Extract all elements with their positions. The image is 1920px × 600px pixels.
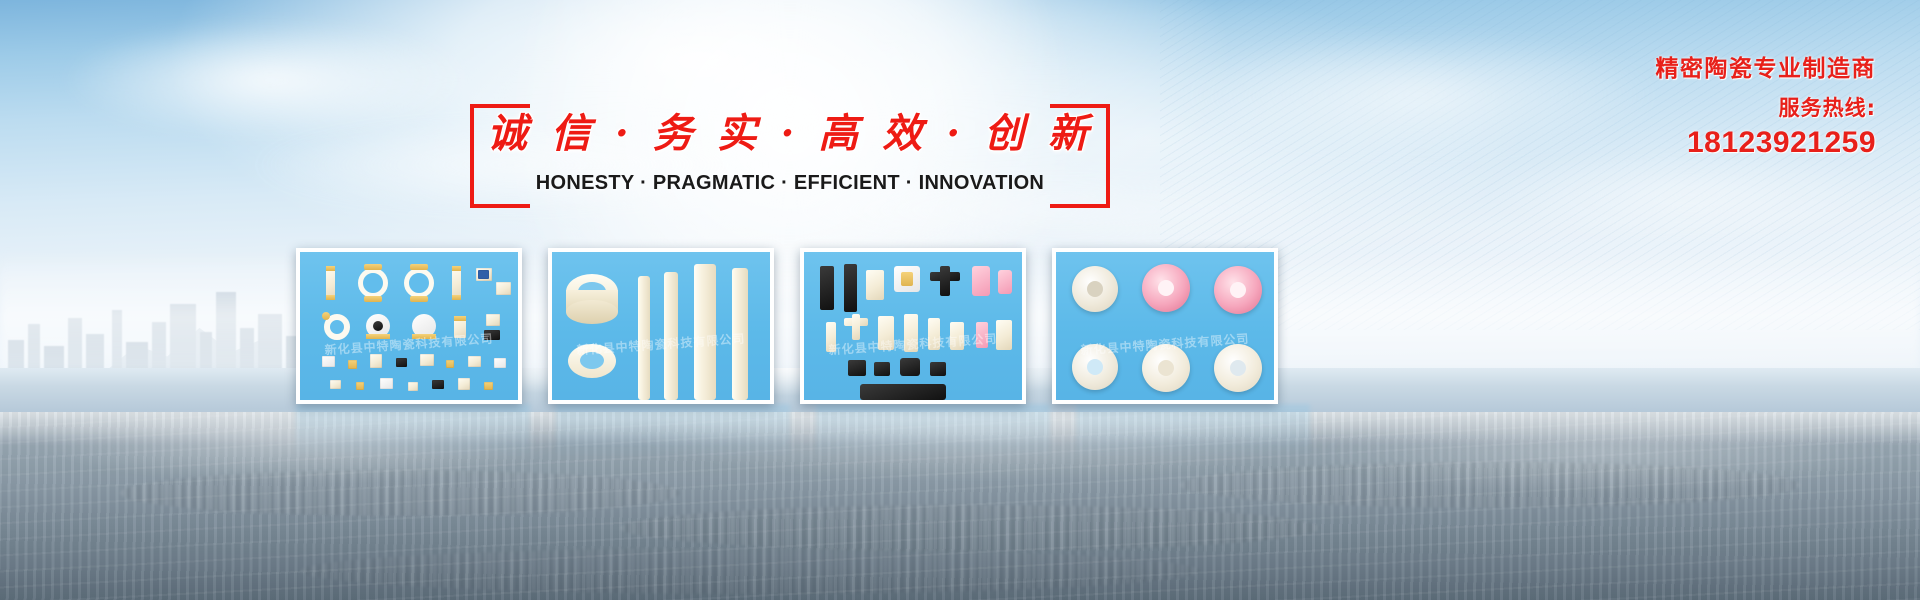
product-panel-4[interactable]: 新化县中特陶瓷科技有限公司: [1052, 248, 1278, 404]
cloud: [1480, 150, 1900, 240]
slogan-block: 诚 信 · 务 实 · 高 效 · 创 新 HONESTY · PRAGMATI…: [470, 104, 1110, 208]
hotline-phone-number[interactable]: 18123921259: [1446, 124, 1876, 162]
slogan-chinese: 诚 信 · 务 实 · 高 效 · 创 新: [470, 106, 1110, 162]
product-panel-2[interactable]: 新化县中特陶瓷科技有限公司: [548, 248, 774, 404]
slogan-english: HONESTY · PRAGMATIC · EFFICIENT · INNOVA…: [470, 168, 1110, 198]
contact-block: 精密陶瓷专业制造商 服务热线: 18123921259: [1446, 52, 1876, 162]
product-panel-row: 新化县中特陶瓷科技有限公司 新化县中特陶瓷科技有限公司: [296, 248, 1528, 404]
product-panel-1[interactable]: 新化县中特陶瓷科技有限公司: [296, 248, 522, 404]
banner-root: 诚 信 · 务 实 · 高 效 · 创 新 HONESTY · PRAGMATI…: [0, 0, 1920, 600]
hotline-label: 服务热线:: [1446, 92, 1876, 124]
company-tagline: 精密陶瓷专业制造商: [1446, 52, 1876, 86]
product-panel-3[interactable]: 新化县中特陶瓷科技有限公司: [800, 248, 1026, 404]
